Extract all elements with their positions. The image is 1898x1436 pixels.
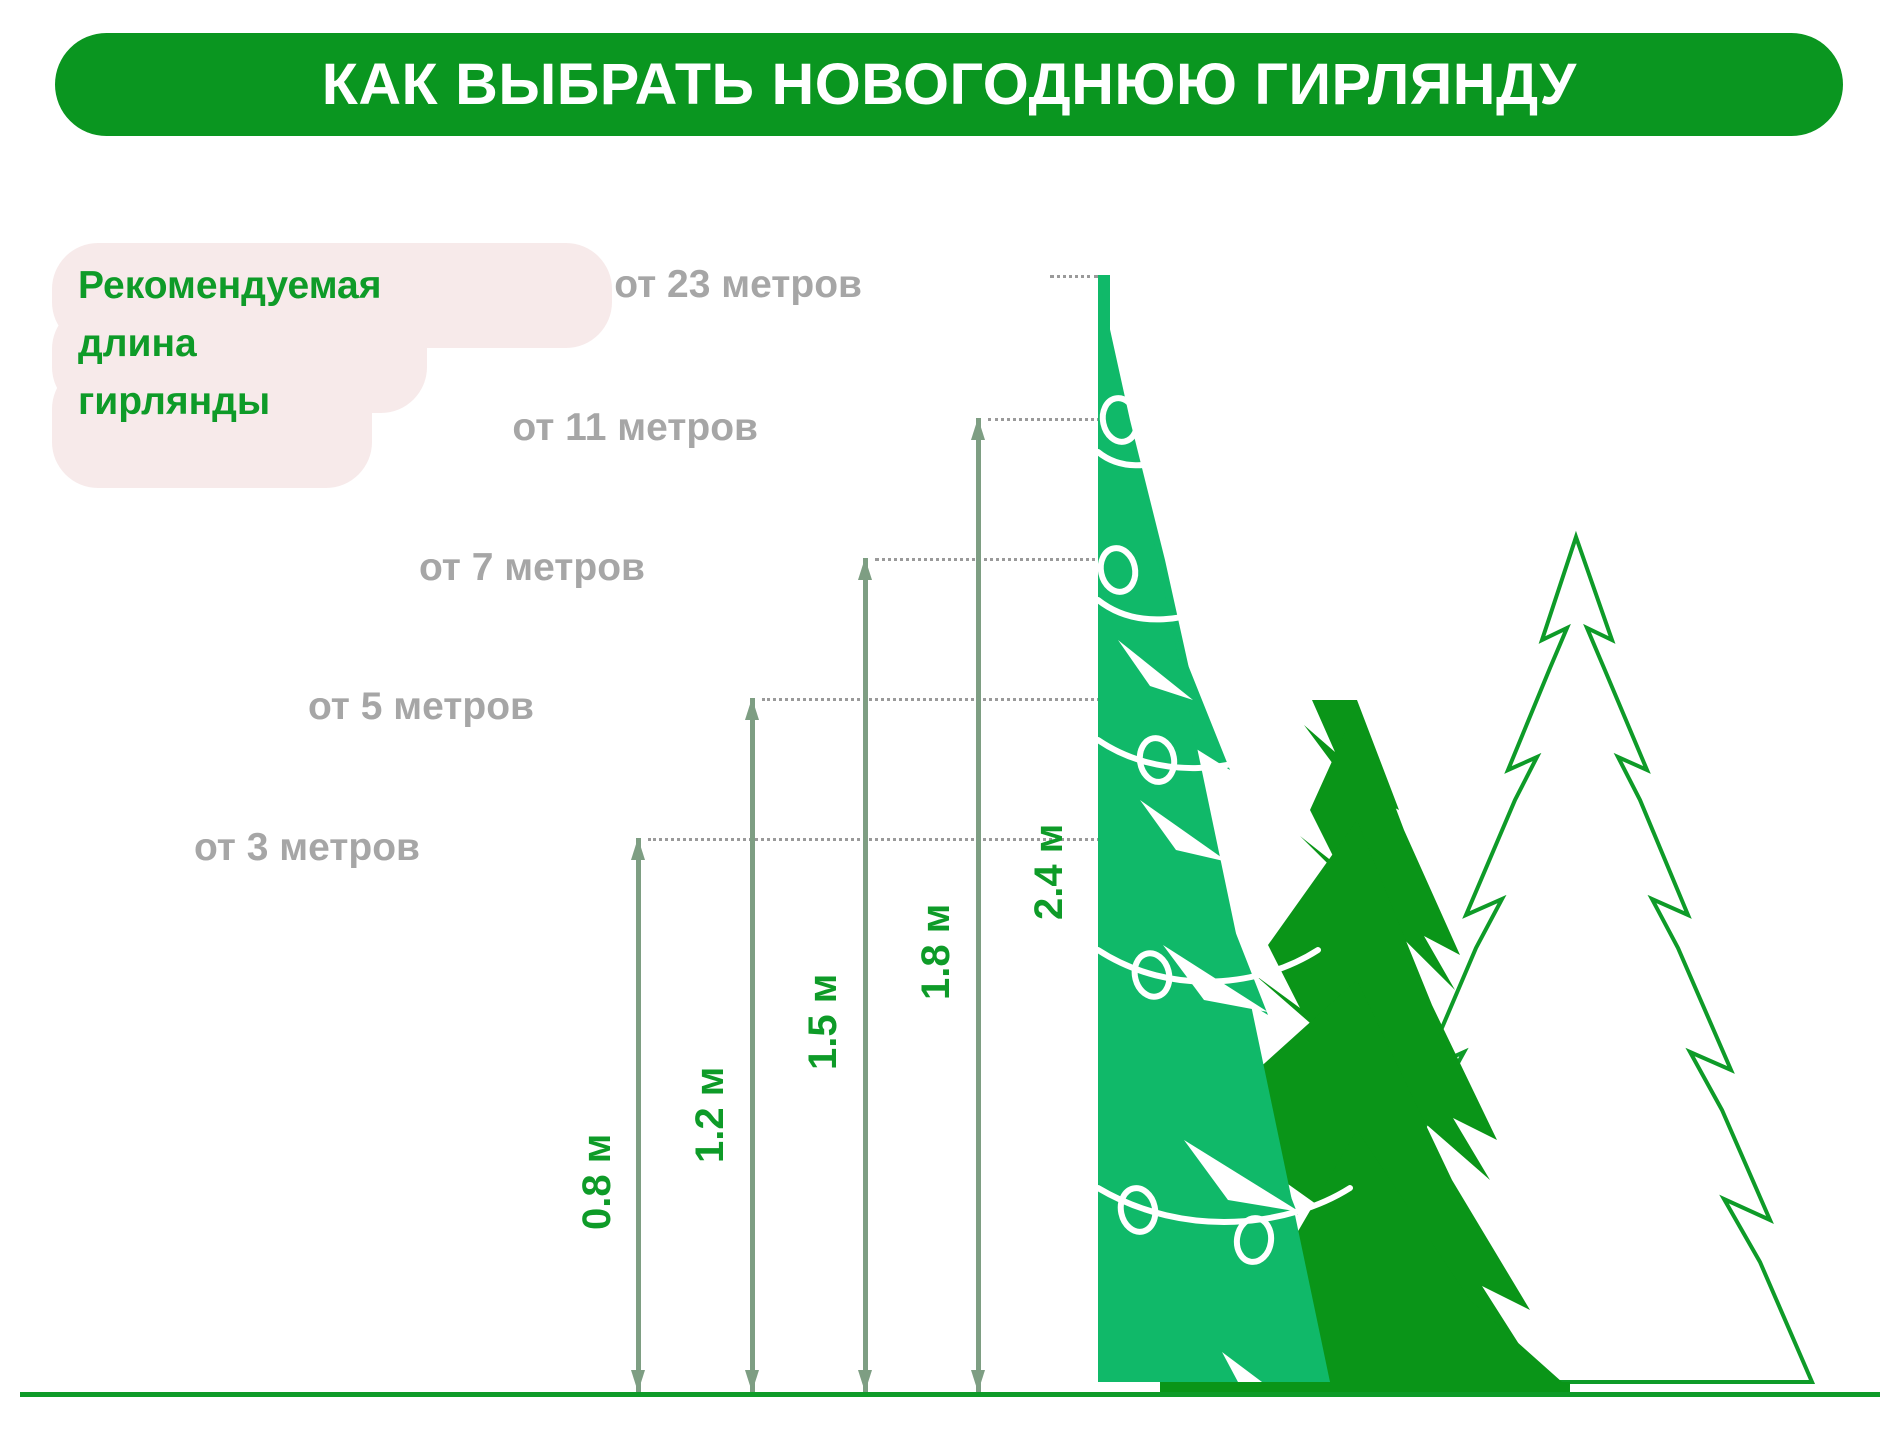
christmas-tree-icon <box>1098 275 1330 1382</box>
infographic-canvas: КАК ВЫБРАТЬ НОВОГОДНЮЮ ГИРЛЯНДУ Рекоменд… <box>0 0 1898 1436</box>
ground-baseline <box>20 1392 1880 1397</box>
tree-illustration-group <box>0 0 1898 1436</box>
